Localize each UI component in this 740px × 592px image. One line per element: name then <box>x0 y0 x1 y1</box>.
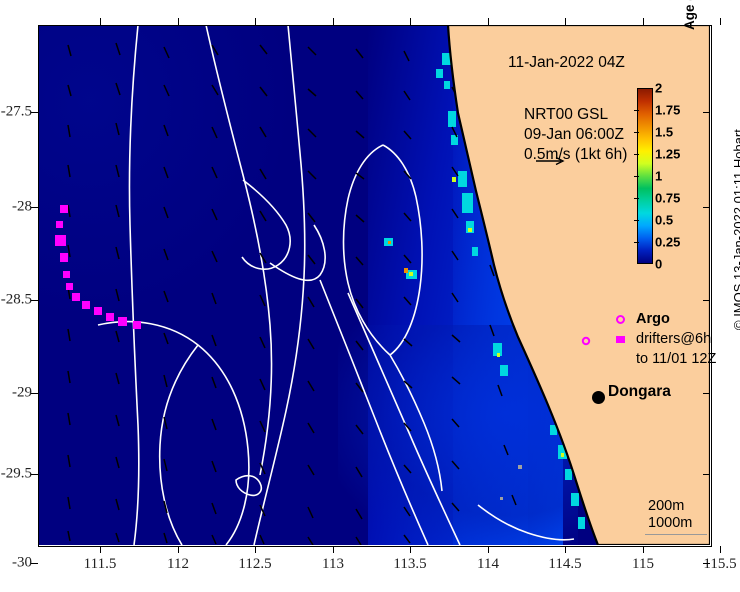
legend-label-drifters: drifters@6h <box>636 331 711 347</box>
x-axis-tick-label: 111.5 <box>84 556 117 573</box>
x-axis-tick-mark-top <box>410 18 411 25</box>
depth-contour-key: 200m 1000m <box>648 498 692 532</box>
legend-label-to: to 11/01 12Z <box>636 351 716 367</box>
dongara-label: Dongara <box>608 383 671 401</box>
figure-canvas: 11-Jan-2022 04Z NRT00 GSL 09-Jan 06:00Z … <box>0 0 740 592</box>
x-axis-tick-mark <box>488 546 489 553</box>
y-axis-tick-mark <box>31 300 38 301</box>
x-axis-tick-mark-top <box>178 18 179 25</box>
colorbar-tick-mark <box>634 110 639 111</box>
dongara-marker-icon <box>592 391 605 404</box>
timestamp-annotation: 11-Jan-2022 04Z <box>508 54 625 72</box>
x-axis-tick-mark <box>720 546 721 553</box>
y-axis-tick-label: -29.5 <box>1 466 32 483</box>
x-axis-tick-mark-top <box>565 18 566 25</box>
x-axis-tick-mark-top <box>255 18 256 25</box>
y-axis-tick-mark-right <box>703 393 710 394</box>
colorbar-tick-mark <box>634 132 639 133</box>
y-axis-tick-mark-right <box>703 474 710 475</box>
x-axis-tick-label: 113.5 <box>393 556 426 573</box>
legend-row-to: to 11/01 12Z <box>608 351 738 371</box>
colorbar-tick-label: 1 <box>655 170 662 183</box>
x-axis-tick-mark <box>100 546 101 553</box>
x-axis-tick-mark <box>178 546 179 553</box>
x-axis-tick-label: 113 <box>322 556 344 573</box>
colorbar-tick-label: 0.25 <box>655 236 680 249</box>
legend-label-argo: Argo <box>636 311 670 327</box>
depth-key-1000m: 1000m <box>648 515 692 532</box>
colorbar-tick-mark <box>634 198 639 199</box>
legend-row-argo: Argo <box>608 311 738 331</box>
depth-key-underline <box>645 534 707 535</box>
y-axis-tick-label: -30 <box>12 555 32 572</box>
y-axis-tick-label: -27.5 <box>1 104 32 121</box>
model-time-line: 09-Jan 06:00Z <box>524 125 627 145</box>
colorbar-tick-label: 0.5 <box>655 214 673 227</box>
model-name-line: NRT00 GSL <box>524 105 627 125</box>
x-axis-tick-mark <box>410 546 411 553</box>
drifter-track-markers <box>38 25 710 545</box>
colorbar-title: Age (days) of filled SST (wrt latest) <box>682 0 697 30</box>
y-axis-tick-mark <box>31 393 38 394</box>
colorbar-tick-mark <box>634 242 639 243</box>
colorbar: 21.751.51.2510.750.50.250 <box>637 88 653 264</box>
x-axis-tick-label: 114.5 <box>548 556 581 573</box>
colorbar-tick-label: 1.25 <box>655 148 680 161</box>
y-axis-tick-mark-right <box>703 563 710 564</box>
x-axis-tick-mark-top <box>720 18 721 25</box>
y-axis-tick-label: -29 <box>12 385 32 402</box>
colorbar-tick-mark <box>634 176 639 177</box>
y-axis-tick-label: -28.5 <box>1 292 32 309</box>
x-axis-tick-mark <box>255 546 256 553</box>
x-axis-tick-mark-top <box>333 18 334 25</box>
x-axis-tick-label: 112 <box>167 556 189 573</box>
y-axis-tick-mark <box>31 112 38 113</box>
y-axis-tick-mark-right <box>703 207 710 208</box>
marker-legend: Argo drifters@6h to 11/01 12Z <box>608 311 738 371</box>
y-axis-tick-mark <box>31 563 38 564</box>
y-axis-tick-label: -28 <box>12 199 32 216</box>
x-axis-tick-mark-top <box>643 18 644 25</box>
colorbar-tick-label: 1.75 <box>655 104 680 117</box>
x-axis-tick-mark-top <box>100 18 101 25</box>
x-axis-tick-label: 115 <box>632 556 654 573</box>
colorbar-tick-mark <box>634 220 639 221</box>
legend-row-drifters: drifters@6h <box>608 331 738 351</box>
map-plot-area: 11-Jan-2022 04Z NRT00 GSL 09-Jan 06:00Z … <box>38 25 710 545</box>
y-axis-tick-mark-right <box>703 300 710 301</box>
x-axis-tick-label: 114 <box>477 556 499 573</box>
x-axis-tick-mark <box>333 546 334 553</box>
copyright-credit: © IMOS 13-Jan-2022 01:11 Hobart <box>731 129 740 330</box>
colorbar-tick-label: 2 <box>655 82 662 95</box>
x-axis-tick-label: 115.5 <box>703 556 736 573</box>
x-axis-tick-label: 112.5 <box>238 556 271 573</box>
colorbar-tick-label: 0 <box>655 258 662 271</box>
colorbar-gradient <box>637 88 653 264</box>
y-axis-tick-mark <box>31 474 38 475</box>
y-axis-tick-mark <box>31 207 38 208</box>
colorbar-tick-mark <box>634 154 639 155</box>
x-axis-tick-mark <box>643 546 644 553</box>
colorbar-tick-label: 1.5 <box>655 126 673 139</box>
x-axis-tick-mark <box>565 546 566 553</box>
colorbar-tick-label: 0.75 <box>655 192 680 205</box>
vector-scale-arrow-icon <box>535 156 565 166</box>
y-axis-tick-mark-right <box>703 112 710 113</box>
depth-key-200m: 200m <box>648 498 692 515</box>
x-axis-tick-mark-top <box>488 18 489 25</box>
